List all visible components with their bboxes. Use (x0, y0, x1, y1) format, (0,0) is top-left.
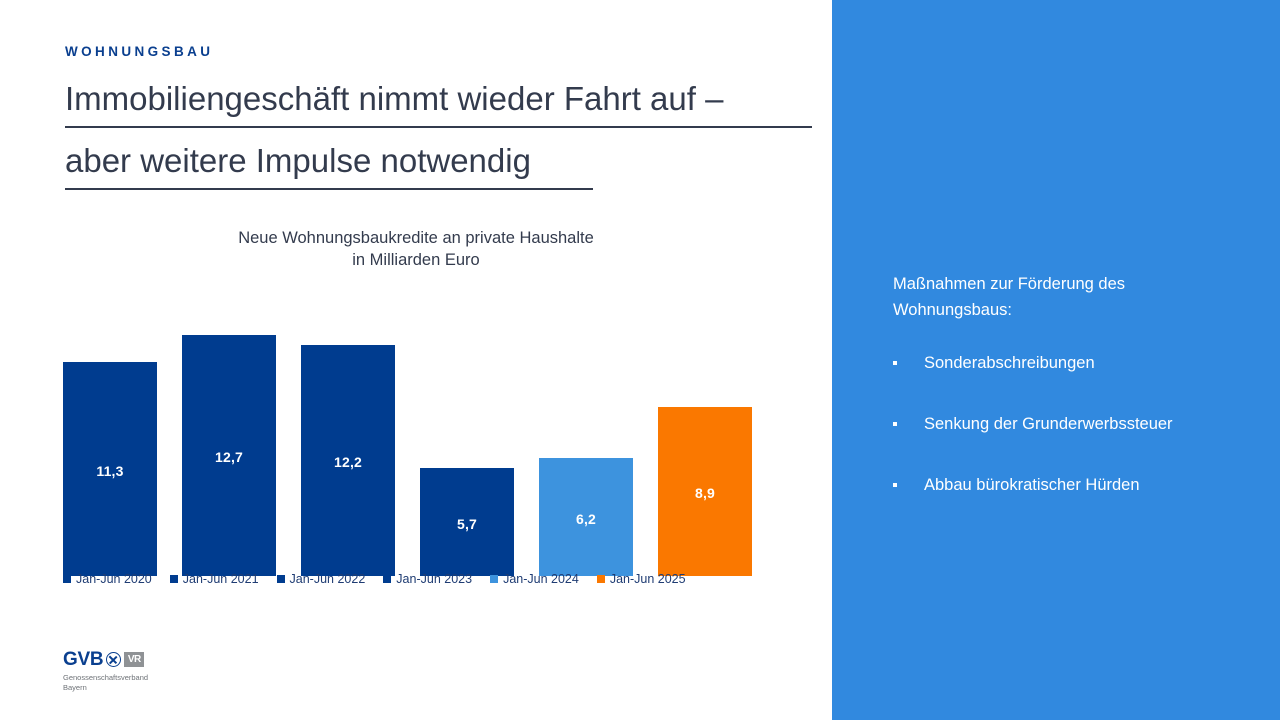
chart-title-main: Neue Wohnungsbaukredite an private Haush… (21, 228, 811, 250)
left-content-panel: WOHNUNGSBAU Immobiliengeschäft nimmt wie… (0, 0, 832, 720)
slide: WOHNUNGSBAU Immobiliengeschäft nimmt wie… (0, 0, 1280, 720)
legend-item[interactable]: Jan-Jun 2025 (597, 572, 686, 586)
bullet-icon (893, 483, 897, 487)
measures-heading-line-2: Wohnungsbaus: (893, 298, 1193, 324)
bar-value-label: 5,7 (457, 516, 477, 532)
bar-value-label: 12,7 (215, 449, 243, 465)
bullet-icon (893, 422, 897, 426)
bar-value-label: 12,2 (334, 454, 362, 470)
logo-subtitle-line-2: Bayern (63, 683, 148, 693)
chart-title-unit: in Milliarden Euro (21, 250, 811, 272)
measures-list: SonderabschreibungenSenkung der Grunderw… (893, 352, 1263, 535)
measures-list-item-label: Abbau bürokratischer Hürden (924, 476, 1140, 494)
measures-heading: Maßnahmen zur Förderung des Wohnungsbaus… (893, 272, 1193, 323)
page-title-line-1: Immobiliengeschäft nimmt wieder Fahrt au… (65, 82, 812, 128)
chart-plot-area: 11,312,712,25,76,28,9 (0, 295, 832, 576)
legend-swatch-icon (490, 575, 498, 583)
right-measures-panel: Maßnahmen zur Förderung des Wohnungsbaus… (832, 0, 1280, 720)
legend-item[interactable]: Jan-Jun 2024 (490, 572, 579, 586)
eyebrow-category-label: WOHNUNGSBAU (65, 44, 213, 59)
legend-swatch-icon (63, 575, 71, 583)
legend-swatch-icon (277, 575, 285, 583)
chart-bar: 12,2 (301, 345, 395, 576)
legend-label: Jan-Jun 2024 (503, 572, 579, 586)
measures-list-item: Senkung der Grunderwerbssteuer (893, 413, 1263, 436)
page-title-line-2: aber weitere Impulse notwendig (65, 144, 593, 190)
chart-bar: 5,7 (420, 468, 514, 576)
bar-series: 11,312,712,25,76,28,9 (63, 320, 763, 576)
gvb-logo: GVB VR Genossenschaftsverband Bayern (63, 650, 148, 693)
chart-container: Neue Wohnungsbaukredite an private Haush… (0, 228, 832, 576)
measures-heading-line-1: Maßnahmen zur Förderung des (893, 272, 1193, 298)
vr-badge-icon: VR (124, 652, 144, 667)
legend-item[interactable]: Jan-Jun 2022 (277, 572, 366, 586)
bar-value-label: 6,2 (576, 511, 596, 527)
legend-item[interactable]: Jan-Jun 2021 (170, 572, 259, 586)
chart-title: Neue Wohnungsbaukredite an private Haush… (21, 228, 811, 272)
legend-swatch-icon (170, 575, 178, 583)
legend-swatch-icon (597, 575, 605, 583)
measures-list-item: Sonderabschreibungen (893, 352, 1263, 375)
legend-label: Jan-Jun 2023 (396, 572, 472, 586)
chart-bar: 12,7 (182, 335, 276, 576)
measures-list-item: Abbau bürokratischer Hürden (893, 474, 1263, 497)
legend-label: Jan-Jun 2020 (76, 572, 152, 586)
legend-item[interactable]: Jan-Jun 2023 (383, 572, 472, 586)
bar-value-label: 8,9 (695, 485, 715, 501)
chart-bar: 6,2 (539, 458, 633, 576)
circled-x-icon (106, 652, 121, 667)
chart-legend: Jan-Jun 2020Jan-Jun 2021Jan-Jun 2022Jan-… (63, 572, 803, 586)
bullet-icon (893, 361, 897, 365)
logo-wordmark: GVB (63, 650, 103, 669)
legend-swatch-icon (383, 575, 391, 583)
legend-label: Jan-Jun 2021 (183, 572, 259, 586)
logo-subtitle: Genossenschaftsverband Bayern (63, 673, 148, 693)
legend-item[interactable]: Jan-Jun 2020 (63, 572, 152, 586)
logo-subtitle-line-1: Genossenschaftsverband (63, 673, 148, 683)
measures-list-item-label: Senkung der Grunderwerbssteuer (924, 415, 1173, 433)
legend-label: Jan-Jun 2025 (610, 572, 686, 586)
legend-label: Jan-Jun 2022 (290, 572, 366, 586)
chart-bar: 11,3 (63, 362, 157, 576)
page-title: Immobiliengeschäft nimmt wieder Fahrt au… (65, 82, 815, 190)
chart-bar: 8,9 (658, 407, 752, 576)
bar-value-label: 11,3 (96, 463, 123, 479)
measures-list-item-label: Sonderabschreibungen (924, 354, 1095, 372)
logo-mark-row: GVB VR (63, 650, 148, 669)
